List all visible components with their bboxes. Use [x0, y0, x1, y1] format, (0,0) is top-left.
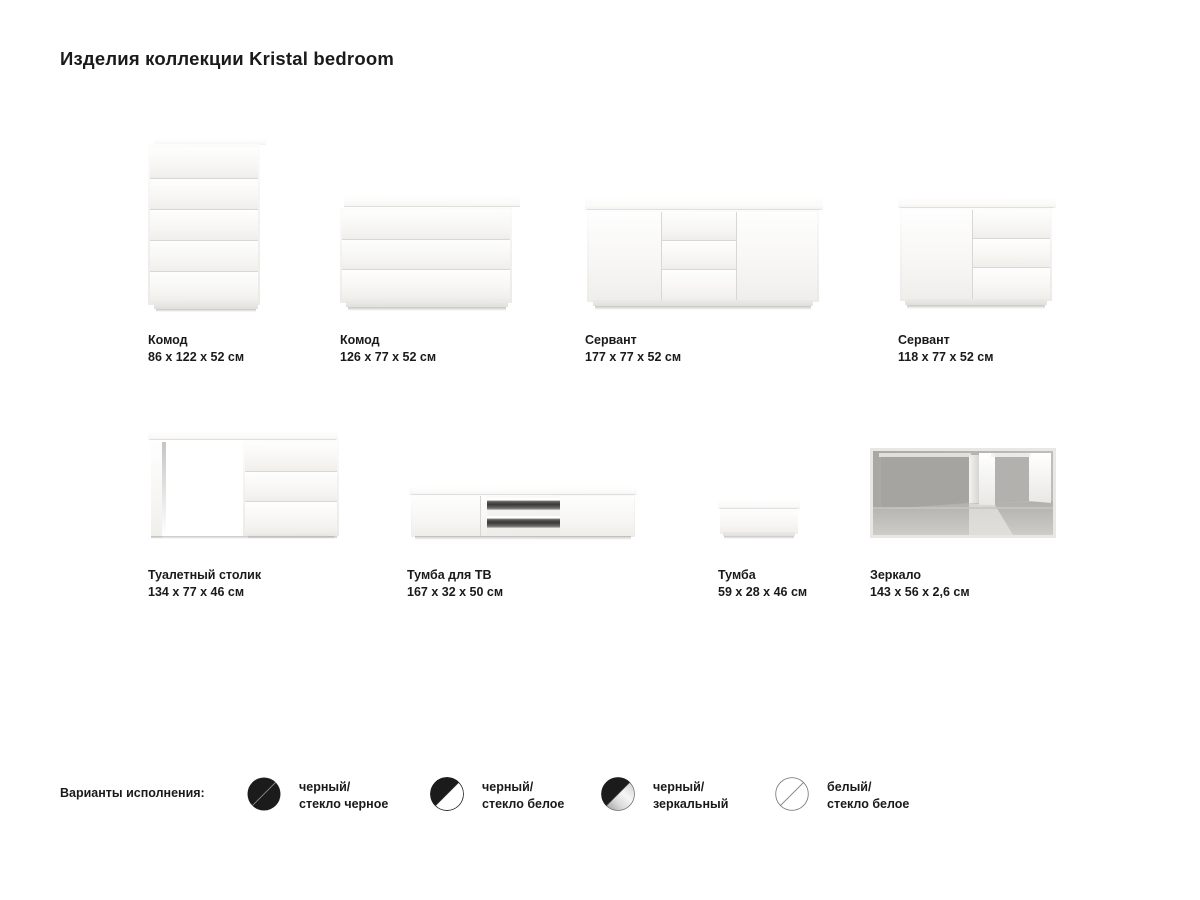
finish-option-label: белый/ стекло белое	[827, 779, 909, 813]
legend-title: Варианты исполнения:	[60, 786, 205, 800]
finish-option-line2: стекло белое	[482, 796, 564, 813]
finish-option-black-black-glass[interactable]: черный/ стекло черное	[247, 775, 407, 821]
finish-option-line2: зеркальный	[653, 796, 728, 813]
finish-option-black-white-glass[interactable]: черный/ стекло белое	[430, 775, 590, 821]
finish-option-line2: стекло черное	[299, 796, 388, 813]
finish-option-line2: стекло белое	[827, 796, 909, 813]
finish-option-white-white-glass[interactable]: белый/ стекло белое	[775, 775, 945, 821]
finish-options-legend: Варианты исполнения: черный/ стекло черн…	[0, 0, 1200, 900]
finish-option-label: черный/ стекло белое	[482, 779, 564, 813]
swatch-black-mirror-icon	[601, 777, 635, 811]
finish-option-label: черный/ стекло черное	[299, 779, 388, 813]
finish-option-line1: черный/	[653, 779, 728, 796]
finish-option-line1: черный/	[299, 779, 388, 796]
finish-option-line1: черный/	[482, 779, 564, 796]
finish-option-line1: белый/	[827, 779, 909, 796]
swatch-white-white-icon	[775, 777, 809, 811]
finish-option-black-mirror[interactable]: черный/ зеркальный	[601, 775, 771, 821]
swatch-black-white-icon	[430, 777, 464, 811]
swatch-black-black-icon	[247, 777, 281, 811]
finish-option-label: черный/ зеркальный	[653, 779, 728, 813]
